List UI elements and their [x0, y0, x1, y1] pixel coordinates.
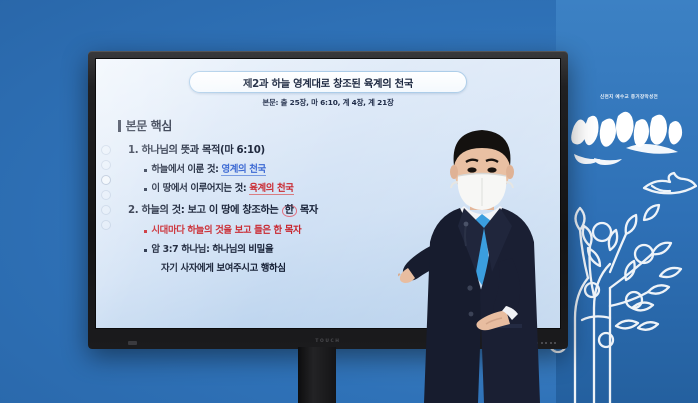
mask-strap-left	[451, 182, 458, 188]
square-bullet-icon	[144, 169, 147, 172]
bullet-2-text: 하늘에서 이룬 것: 영계의 천국	[151, 161, 265, 175]
whiteboard-toolbar[interactable]	[101, 145, 114, 235]
mask-strap-right	[506, 182, 513, 188]
jacket-button	[469, 312, 474, 317]
ink-circle-annotation: 한	[282, 205, 297, 217]
heading-bar-icon	[118, 120, 121, 132]
display-stand	[298, 347, 336, 403]
bullet-6-text: 암 3:7 하나님: 하나님의 비밀을	[151, 241, 273, 255]
lapel-microphone	[465, 224, 466, 246]
dove-icon	[644, 173, 696, 193]
bullet-3-highlight: 육계의 천국	[249, 183, 293, 195]
slide-title-pill: 제2과 하늘 영계대로 창조된 육계의 천국	[189, 71, 467, 93]
scene: 신천지 예수교 증거장막성전 제2과 하늘 영계대로 창조	[0, 0, 698, 403]
jacket-button	[467, 285, 472, 290]
section-heading-label: 본문 핵심	[126, 117, 172, 134]
slide-subtitle: 본문: 출 25장, 마 6:10, 계 4장, 계 21장	[106, 97, 550, 108]
bullet-2-highlight: 영계의 천국	[221, 164, 265, 176]
square-bullet-icon	[144, 230, 147, 233]
square-bullet-icon	[144, 188, 147, 191]
tool-more-icon[interactable]	[101, 220, 111, 230]
tool-pen-icon[interactable]	[101, 175, 111, 185]
tool-eraser-icon[interactable]	[101, 190, 111, 200]
tool-shape-icon[interactable]	[101, 160, 111, 170]
eye-right	[487, 167, 496, 172]
bullet-5-text: 시대마다 하늘의 것을 보고 들은 한 목자	[151, 222, 301, 236]
tool-select-icon[interactable]	[101, 145, 111, 155]
bullet-3-text: 이 땅에서 이루어지는 것: 육계의 천국	[151, 180, 293, 194]
church-logo: 신천지 예수교 증거장막성전	[566, 92, 692, 168]
slide-title: 제2과 하늘 영계대로 창조된 육계의 천국	[243, 75, 413, 90]
bullet-6-text-line2: 자기 사자에게 보여주시고 행하심	[161, 260, 286, 274]
logo-sub-text: 신천지 예수교 증거장막성전	[566, 94, 692, 100]
eye-left	[467, 167, 476, 172]
tree-leaves	[576, 205, 682, 330]
tree-of-life-decor	[548, 168, 698, 403]
logo-calligraphy	[566, 92, 692, 168]
presenter-figure	[398, 128, 562, 403]
square-bullet-icon	[144, 249, 147, 252]
tool-undo-icon[interactable]	[101, 205, 111, 215]
